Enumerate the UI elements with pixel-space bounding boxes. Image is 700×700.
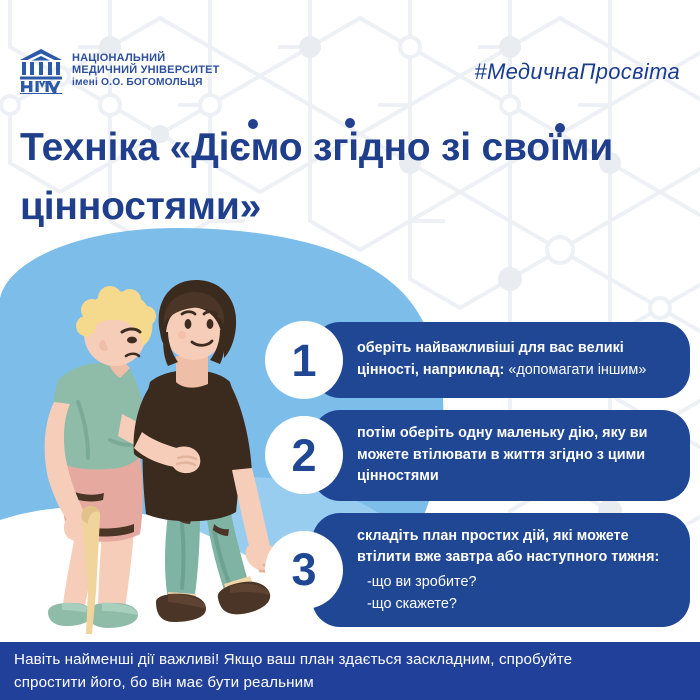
step-number-2: 2 — [265, 416, 343, 494]
step-text-3: складіть план простих дій, які можете вт… — [357, 526, 668, 569]
hashtag-label: #МедичнаПросвіта — [474, 59, 680, 85]
step-bar-2: потім оберіть одну маленьку дію, яку ви … — [312, 410, 690, 501]
step-3-sub-item-1: -що ви зробите? — [367, 571, 668, 593]
banner-line-2: спростити його, бо він має бути реальним — [14, 672, 686, 694]
logo-line-2: МЕДИЧНИЙ УНІВЕРСИТЕТ — [72, 64, 220, 76]
step-3-bold-text: складіть план простих дій, які можете вт… — [357, 528, 659, 566]
steps-list: оберіть найважливіші для вас великі цінн… — [265, 322, 690, 639]
step-number-3: 3 — [265, 531, 343, 609]
infographic-root: НАЦІОНАЛЬНИЙ МЕДИЧНИЙ УНІВЕРСИТЕТ імені … — [0, 0, 700, 700]
step-text-1: оберіть найважливіші для вас великі цінн… — [357, 338, 668, 381]
step-3-sub-list: -що ви зробите? -що скажете? — [357, 571, 668, 616]
step-2-bold-text: потім оберіть одну маленьку дію, яку ви … — [357, 425, 647, 484]
step-item-3[interactable]: складіть план простих дій, які можете вт… — [265, 513, 690, 627]
bottom-banner: Навіть найменші дії важливі! Якщо ваш пл… — [0, 642, 700, 700]
header: НАЦІОНАЛЬНИЙ МЕДИЧНИЙ УНІВЕРСИТЕТ імені … — [0, 0, 700, 115]
banner-line-1: Навіть найменші дії важливі! Якщо ваш пл… — [14, 649, 686, 671]
university-logo[interactable]: НАЦІОНАЛЬНИЙ МЕДИЧНИЙ УНІВЕРСИТЕТ імені … — [17, 47, 220, 94]
step-bar-3: складіть план простих дій, які можете вт… — [312, 513, 690, 627]
step-1-regular-text: «допомагати іншим» — [504, 362, 646, 378]
logo-line-3: імені О.О. БОГОМОЛЬЦЯ — [72, 77, 220, 89]
step-text-2: потім оберіть одну маленьку дію, яку ви … — [357, 423, 668, 488]
logo-line-1: НАЦІОНАЛЬНИЙ — [72, 52, 220, 64]
step-item-1[interactable]: оберіть найважливіші для вас великі цінн… — [265, 322, 690, 398]
logo-text-block: НАЦІОНАЛЬНИЙ МЕДИЧНИЙ УНІВЕРСИТЕТ імені … — [72, 52, 220, 89]
step-bar-1: оберіть найважливіші для вас великі цінн… — [312, 322, 690, 398]
step-3-sub-item-2: -що скажете? — [367, 593, 668, 615]
nmu-building-logo-icon — [17, 47, 65, 94]
step-number-1: 1 — [265, 321, 343, 399]
page-title: Техніка «Діємо згідно зі своїми цінностя… — [20, 118, 685, 237]
step-item-2[interactable]: потім оберіть одну маленьку дію, яку ви … — [265, 410, 690, 501]
